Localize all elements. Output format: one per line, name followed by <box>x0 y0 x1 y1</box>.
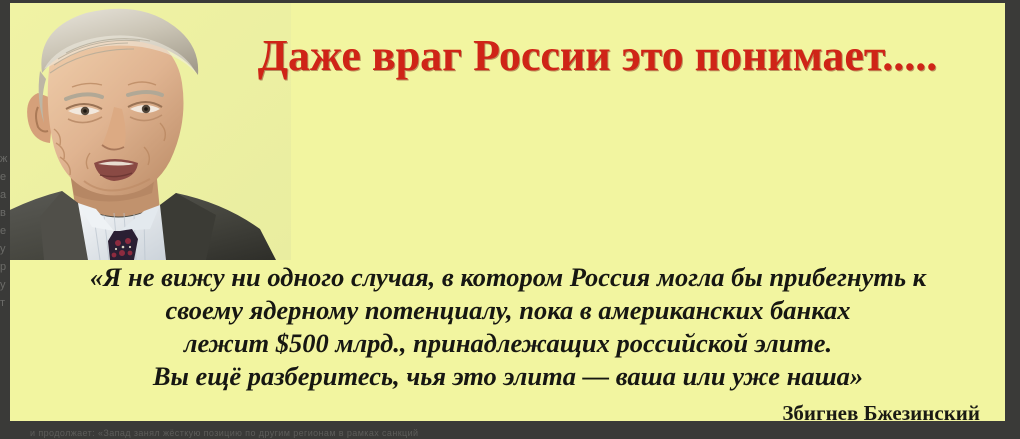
quote-line: «Я не вижу ни одного случая, в котором Р… <box>22 261 994 294</box>
quote-line: лежит $500 млрд., принадлежащих российск… <box>22 327 994 360</box>
image-macro-poster: Даже враг России это понимает..... «Я не… <box>10 3 1005 421</box>
quote-attribution: Збигнев Бжезинский <box>782 401 980 421</box>
background-page-bottom-bleed: и продолжает: «Запад занял жёсткую позиц… <box>30 428 990 438</box>
background-page-left-bleed: ж е а в е у р у т <box>0 150 10 312</box>
quote-line: Вы ещё разберитесь, чья это элита — ваша… <box>22 360 994 393</box>
quote-line: своему ядерному потенциалу, пока в амери… <box>22 294 994 327</box>
page-title: Даже враг России это понимает..... <box>190 30 1005 82</box>
quote-block: «Я не вижу ни одного случая, в котором Р… <box>22 261 994 393</box>
screenshot-canvas: ж е а в е у р у т <box>0 0 1020 439</box>
